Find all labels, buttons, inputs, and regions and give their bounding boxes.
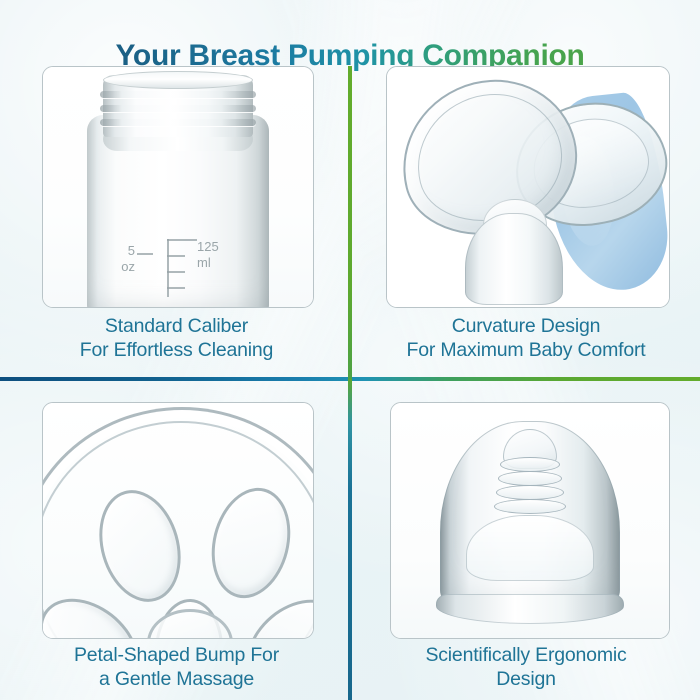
teat-rib [498, 471, 562, 486]
measurement-tick-minor [167, 271, 185, 273]
teat-rib [494, 499, 566, 514]
measurement-metric-unit: ml [197, 255, 245, 271]
feature-card-standard-caliber[interactable]: 5 oz 125 ml [42, 66, 314, 308]
measurement-tick-minor [167, 287, 185, 289]
pump-stem-shape [465, 213, 563, 305]
bottle-neck-image: 5 oz 125 ml [43, 67, 313, 307]
caption-line-1: Petal-Shaped Bump For [14, 643, 339, 667]
bottle-thread-ring [100, 91, 256, 98]
teat-skirt-shape [466, 515, 594, 581]
caption-line-1: Scientifically Ergonomic [358, 643, 694, 667]
teat-rib [496, 485, 564, 500]
silicone-nipple-image [391, 403, 669, 638]
infographic-page: Your Breast Pumping Companion 5 [0, 0, 700, 700]
breast-pump-image [387, 67, 669, 307]
feature-caption-ergonomic-design: Scientifically Ergonomic Design [358, 643, 694, 691]
divider-vertical-bottom [348, 379, 352, 700]
feature-caption-standard-caliber: Standard Caliber For Effortless Cleaning [14, 314, 339, 362]
feature-caption-petal-shaped-bump: Petal-Shaped Bump For a Gentle Massage [14, 643, 339, 691]
feature-caption-curvature-design: Curvature Design For Maximum Baby Comfor… [358, 314, 694, 362]
feature-card-ergonomic-design[interactable] [390, 402, 670, 639]
bottle-thread-ring [100, 105, 256, 112]
measurement-imperial-unit: oz [101, 259, 135, 275]
teat-rib [500, 457, 560, 472]
measurement-metric: 125 ml [197, 239, 245, 271]
caption-line-2: Design [358, 667, 694, 691]
bottle-rim-shape [103, 71, 253, 89]
measurement-tick-minor [167, 255, 185, 257]
caption-line-1: Standard Caliber [14, 314, 339, 338]
measurement-imperial-value: 5 [101, 243, 135, 259]
measurement-tick-minor [137, 253, 153, 255]
measurement-metric-value: 125 [197, 239, 245, 255]
caption-line-2: For Maximum Baby Comfort [358, 338, 694, 362]
bottle-thread-ring [100, 119, 256, 126]
measurement-tick-major [167, 239, 197, 241]
measurement-imperial: 5 oz [101, 243, 135, 275]
caption-line-2: For Effortless Cleaning [14, 338, 339, 362]
feature-card-curvature-design[interactable] [386, 66, 670, 308]
divider-vertical-top [348, 66, 352, 379]
measurement-markings: 5 oz 125 ml [101, 235, 261, 301]
petal-cushion-image [43, 403, 313, 638]
feature-card-petal-shaped-bump[interactable] [42, 402, 314, 639]
caption-line-2: a Gentle Massage [14, 667, 339, 691]
caption-line-1: Curvature Design [358, 314, 694, 338]
teat-base-shape [436, 594, 624, 624]
